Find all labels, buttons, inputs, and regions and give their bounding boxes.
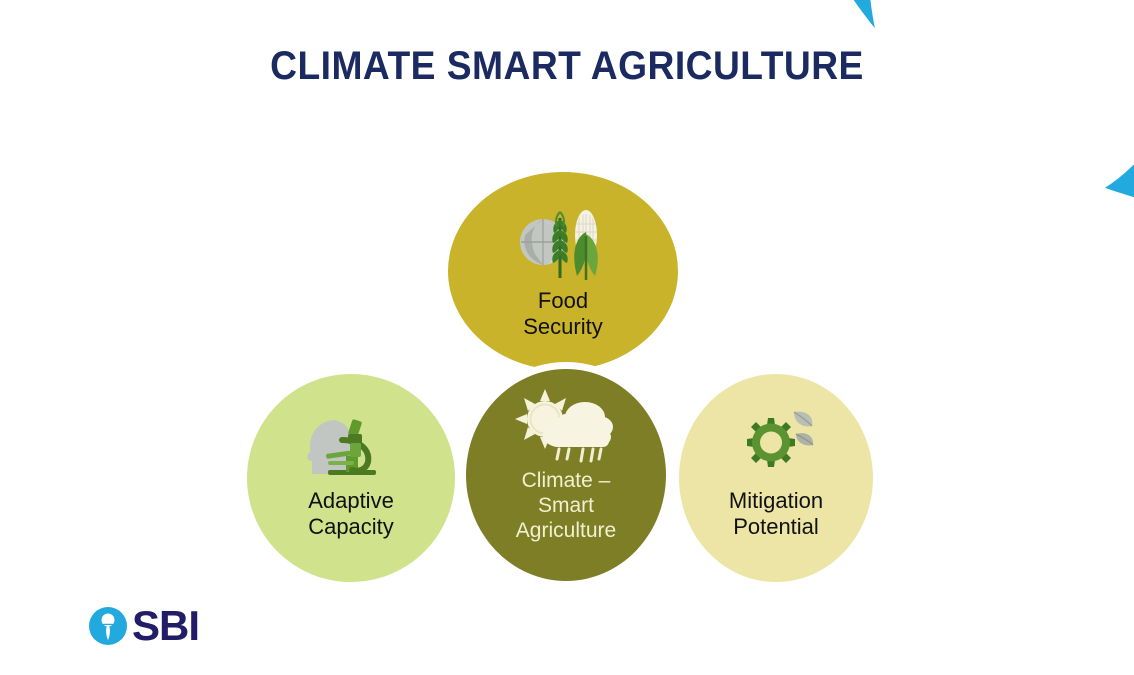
diagram-node-label: Adaptive Capacity bbox=[308, 488, 394, 540]
cyan-corner-swoosh-cutout bbox=[868, 0, 1134, 208]
head-microscope-icon bbox=[302, 412, 400, 478]
sbi-keyhole-mark-icon bbox=[88, 606, 128, 646]
diagram-node-label: Mitigation Potential bbox=[729, 488, 823, 540]
page-title: CLIMATE SMART AGRICULTURE bbox=[40, 44, 1095, 89]
sbi-wordmark: SBI bbox=[132, 605, 199, 647]
sbi-logo: SBI bbox=[88, 605, 199, 647]
sun-cloud-rain-icon bbox=[511, 387, 621, 465]
diagram-node-adaptive-capacity[interactable]: Adaptive Capacity bbox=[240, 367, 462, 589]
diagram-node-label: Climate – Smart Agriculture bbox=[516, 469, 616, 543]
diagram-node-label: Food Security bbox=[523, 288, 602, 340]
diagram-node-climate-smart-agriculture[interactable]: Climate – Smart Agriculture bbox=[459, 362, 673, 588]
cyan-corner-swoosh bbox=[774, 0, 1134, 220]
slide-canvas: CLIMATE SMART AGRICULTURE bbox=[0, 0, 1134, 675]
globe-wheat-corn-icon bbox=[515, 202, 611, 282]
gear-leaves-icon bbox=[728, 404, 824, 476]
diagram-node-mitigation-potential[interactable]: Mitigation Potential bbox=[672, 367, 880, 589]
diagram-node-food-security[interactable]: Food Security bbox=[441, 165, 685, 377]
